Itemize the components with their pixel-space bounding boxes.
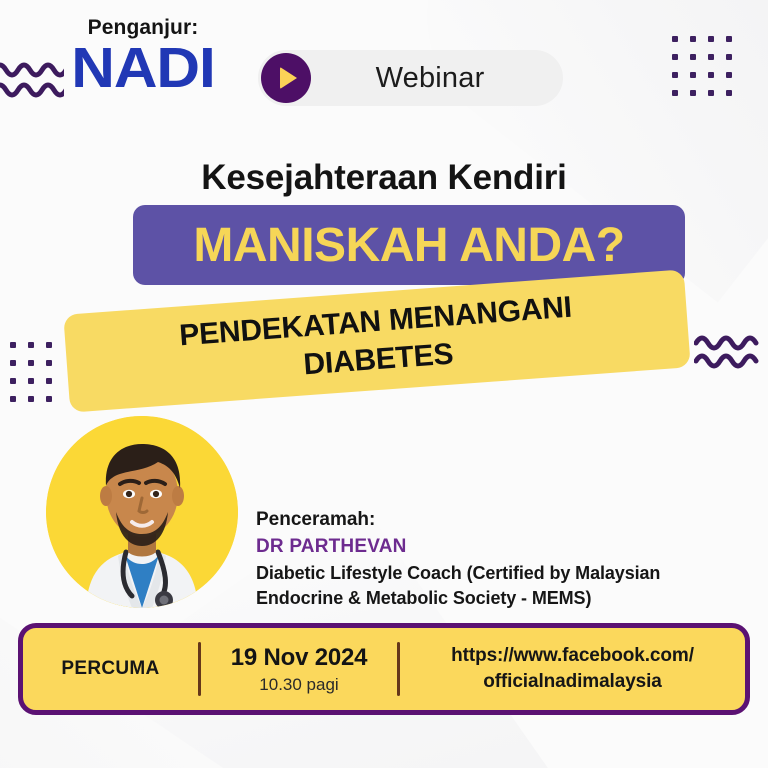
facebook-link-line-2[interactable]: officialnadimalaysia [483,669,662,695]
divider-2 [397,642,400,696]
event-time: 10.30 pagi [259,675,338,695]
speaker-role-label: Penceramah: [256,507,726,534]
topic-band: PENDEKATAN MENANGANI DIABETES [63,269,691,412]
page-subtitle: Kesejahteraan Kendiri [0,158,768,198]
price-cell: PERCUMA [23,658,198,680]
page-title: MANISKAH ANDA? [193,218,624,273]
price-label: PERCUMA [61,658,159,680]
topic-band-text: PENDEKATAN MENANGANI DIABETES [178,288,576,393]
speaker-credentials-line-2: Endocrine & Metabolic Society - MEMS) [256,586,726,612]
link-cell[interactable]: https://www.facebook.com/ officialnadima… [400,643,745,695]
dot-grid-icon-left [10,342,64,414]
date-cell: 19 Nov 2024 10.30 pagi [201,644,397,695]
headline-box: MANISKAH ANDA? [133,205,685,285]
speaker-credentials-line-1: Diabetic Lifestyle Coach (Certified by M… [256,561,726,587]
organiser-block: Penganjur: NADI [58,16,228,95]
doctor-avatar [46,416,238,608]
webinar-badge: Webinar [258,50,563,106]
wave-icon-right [694,330,762,381]
divider-1 [198,642,201,696]
webinar-poster: Penganjur: NADI Webinar Kesejahteraan Ke… [0,0,768,768]
speaker-details: Penceramah: DR PARTHEVAN Diabetic Lifest… [256,507,726,612]
play-triangle-icon [280,67,297,89]
speaker-name: DR PARTHEVAN [256,534,726,561]
event-info-bar: PERCUMA 19 Nov 2024 10.30 pagi https://w… [18,623,750,715]
facebook-link-line-1[interactable]: https://www.facebook.com/ [451,643,694,669]
webinar-label: Webinar [311,62,563,95]
nadi-logo: NADI [53,41,233,95]
play-icon [261,53,311,103]
event-date: 19 Nov 2024 [231,644,368,672]
dot-grid-icon-top-right [672,36,744,108]
